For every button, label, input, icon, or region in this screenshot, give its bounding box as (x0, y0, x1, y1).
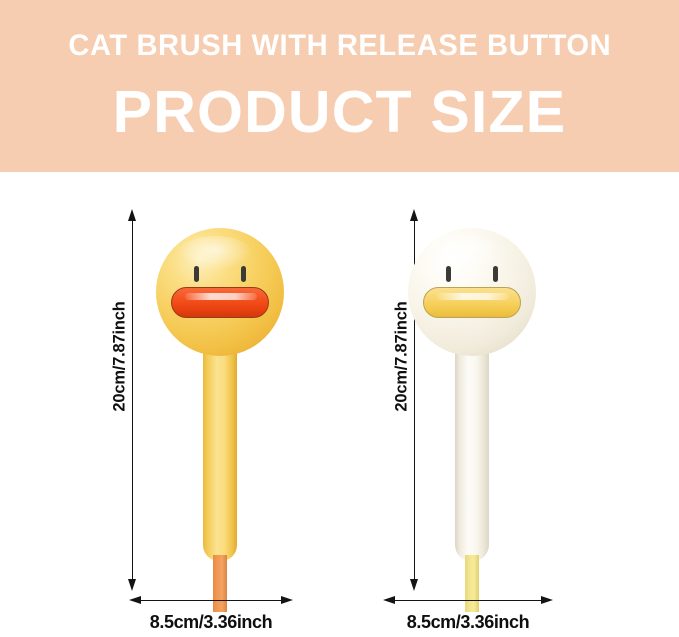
height-dimension-line-yellow (132, 220, 133, 580)
product-cream-cat-brush: 20cm/7.87inch 8.5cm/3.36inch (372, 172, 672, 637)
head-highlight-icon (178, 236, 252, 270)
product-diagram-area: 20cm/7.87inch 8.5cm/3.36inch 20cm/7.8 (0, 172, 679, 637)
banner-subtitle: CAT BRUSH WITH RELEASE BUTTON (68, 31, 611, 61)
product-yellow-cat-brush: 20cm/7.87inch 8.5cm/3.36inch (90, 172, 390, 637)
release-button-yellow[interactable] (171, 287, 269, 318)
page-title: PRODUCT SIZE (113, 83, 567, 142)
brush-tip-cream (465, 555, 479, 612)
eye-left-icon (446, 266, 451, 282)
width-dimension-label-cream: 8.5cm/3.36inch (394, 612, 542, 633)
button-highlight-icon (437, 293, 509, 300)
width-dimension-label-yellow: 8.5cm/3.36inch (140, 612, 282, 633)
header-banner: CAT BRUSH WITH RELEASE BUTTON PRODUCT SI… (0, 0, 679, 172)
eye-left-icon (194, 266, 199, 282)
eye-right-icon (493, 266, 498, 282)
width-dimension-line-yellow (140, 600, 282, 601)
height-dimension-label-yellow: 20cm/7.87inch (111, 267, 130, 447)
button-highlight-icon (185, 293, 257, 300)
release-button-cream[interactable] (423, 287, 521, 318)
eye-right-icon (241, 266, 246, 282)
width-dimension-line-cream (394, 600, 542, 601)
product-size-infographic: CAT BRUSH WITH RELEASE BUTTON PRODUCT SI… (0, 0, 679, 637)
brush-head-yellow (156, 228, 284, 356)
head-highlight-icon (430, 236, 504, 270)
brush-head-cream (408, 228, 536, 356)
brush-tip-yellow (213, 555, 227, 612)
